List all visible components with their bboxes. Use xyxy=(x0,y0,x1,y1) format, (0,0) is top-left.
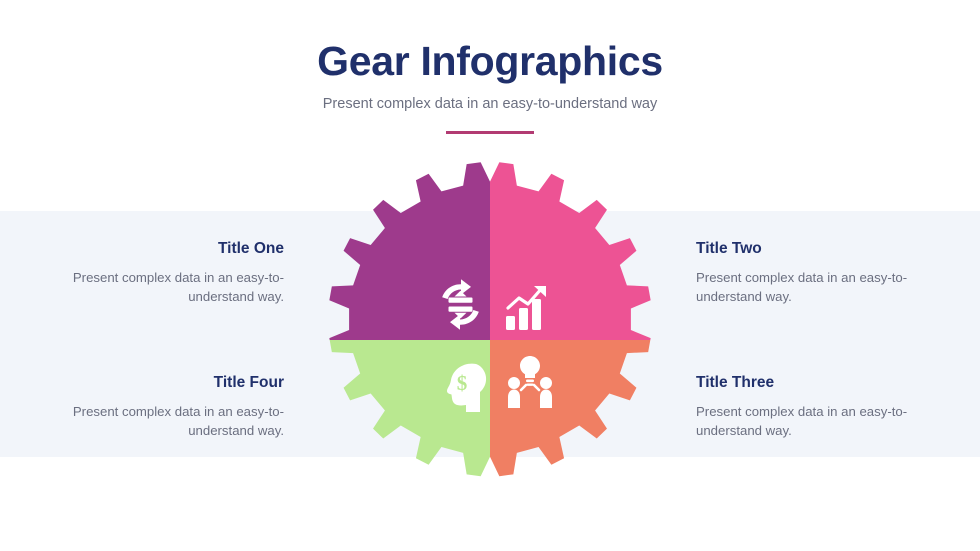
slide-canvas: Gear Infographics Present complex data i… xyxy=(0,0,980,551)
info-block-four-title: Title Four xyxy=(22,374,284,393)
info-block-one: Title One Present complex data in an eas… xyxy=(22,240,284,306)
info-block-three: Title Three Present complex data in an e… xyxy=(696,374,958,440)
info-block-two: Title Two Present complex data in an eas… xyxy=(696,240,958,306)
page-title: Gear Infographics xyxy=(0,0,980,85)
gear-segment-top-right[interactable] xyxy=(490,160,670,340)
slide-header: Gear Infographics Present complex data i… xyxy=(0,0,980,134)
gear-diagram: $ xyxy=(310,160,670,520)
title-underline-rule xyxy=(446,131,534,134)
info-block-four-description: Present complex data in an easy-to-under… xyxy=(22,393,284,440)
gear-segment-bottom-right[interactable] xyxy=(490,340,670,520)
info-block-four: Title Four Present complex data in an ea… xyxy=(22,374,284,440)
info-block-two-description: Present complex data in an easy-to-under… xyxy=(696,259,958,306)
gear-svg: $ xyxy=(310,160,670,520)
info-block-three-description: Present complex data in an easy-to-under… xyxy=(696,393,958,440)
info-block-one-title: Title One xyxy=(22,240,284,259)
info-block-one-description: Present complex data in an easy-to-under… xyxy=(22,259,284,306)
info-block-two-title: Title Two xyxy=(696,240,958,259)
page-subtitle: Present complex data in an easy-to-under… xyxy=(0,85,980,112)
svg-text:$: $ xyxy=(457,371,468,395)
info-block-three-title: Title Three xyxy=(696,374,958,393)
